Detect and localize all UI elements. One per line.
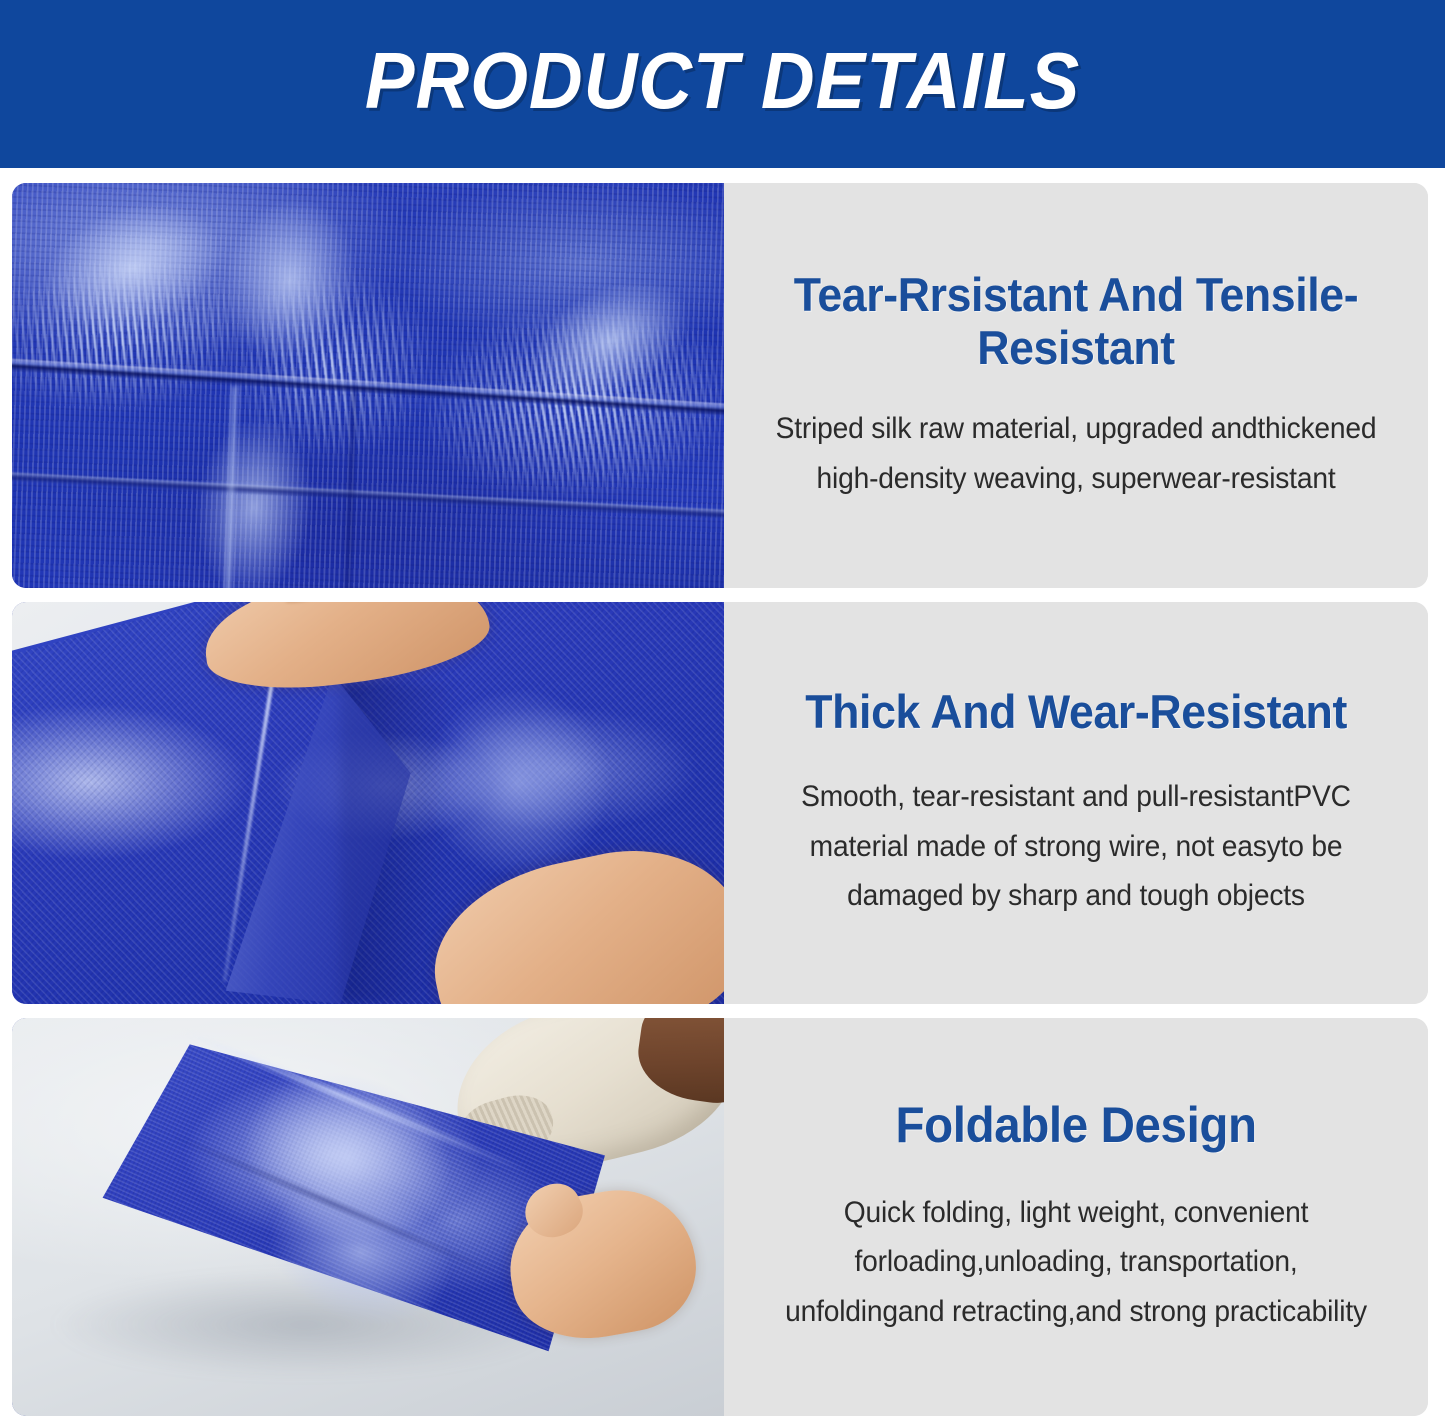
- feature-image-hands-stretching-tarp: [12, 602, 724, 1004]
- feature-title: Thick And Wear-Resistant: [805, 685, 1347, 738]
- knuckles: [285, 602, 342, 606]
- feature-rows: Tear-Rrsistant And Tensile-Resistant Str…: [12, 183, 1428, 1416]
- feature-row-tear-resistant: Tear-Rrsistant And Tensile-Resistant Str…: [12, 183, 1428, 588]
- feature-image-folded-tarp: [12, 1018, 724, 1416]
- feature-description: Quick folding, light weight, convenient …: [775, 1188, 1377, 1337]
- feature-row-foldable-design: Foldable Design Quick folding, light wei…: [12, 1018, 1428, 1416]
- header-banner: PRODUCT DETAILS: [0, 0, 1445, 168]
- page-title: PRODUCT DETAILS: [365, 41, 1080, 127]
- feature-text-block: Thick And Wear-Resistant Smooth, tear-re…: [724, 602, 1428, 1004]
- feature-text-block: Foldable Design Quick folding, light wei…: [724, 1018, 1428, 1416]
- feature-description: Smooth, tear-resistant and pull-resistan…: [775, 772, 1377, 921]
- feature-title: Tear-Rrsistant And Tensile-Resistant: [766, 268, 1385, 374]
- feature-title: Foldable Design: [895, 1097, 1256, 1154]
- feature-image-pvc-weave-closeup: [12, 183, 724, 588]
- feature-text-block: Tear-Rrsistant And Tensile-Resistant Str…: [724, 183, 1428, 588]
- feature-description: Striped silk raw material, upgraded andt…: [775, 404, 1377, 504]
- feature-row-wear-resistant: Thick And Wear-Resistant Smooth, tear-re…: [12, 602, 1428, 1004]
- product-details-infographic: PRODUCT DETAILS Tear-Rrsistant And T: [0, 0, 1445, 1427]
